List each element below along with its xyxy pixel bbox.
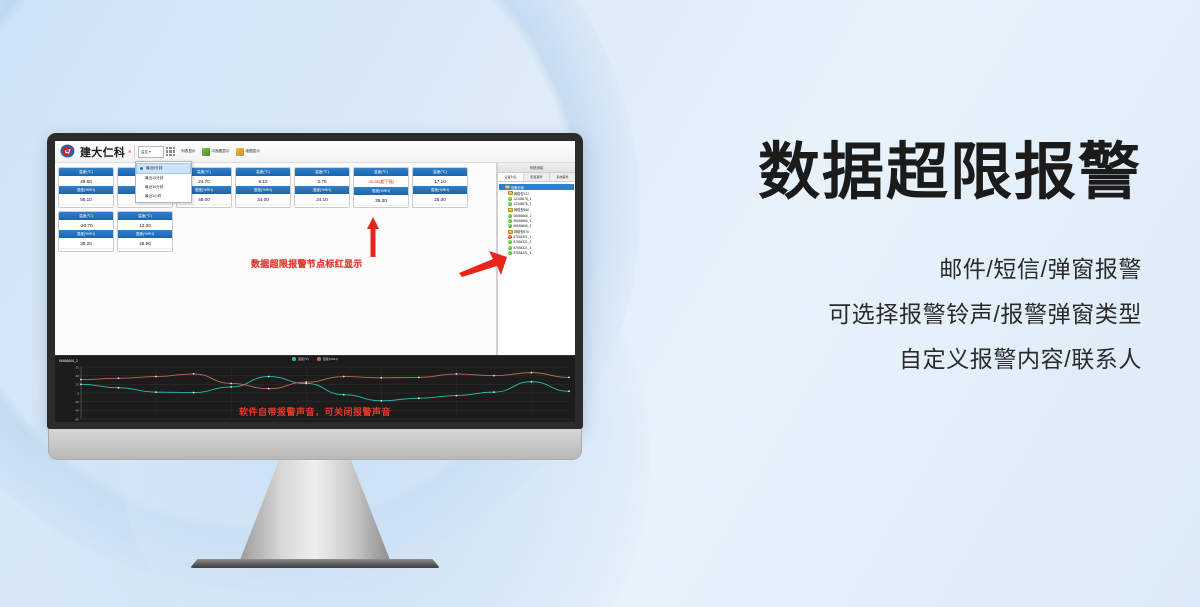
legend-swatch-humidity [317, 357, 321, 361]
tree-device-label: 12345678_2 [514, 202, 532, 206]
device-card[interactable]: 温度(℃)17.10湿度(%RH)25.0087654321_2 [412, 167, 468, 208]
card-temperature-header: 温度(℃) [118, 212, 172, 220]
card-device-id: 66666666_3 [295, 204, 349, 208]
tree-device-label: 12345678_1 [514, 197, 532, 201]
chevron-down-icon: ▾ [149, 149, 151, 154]
side-panel-title: 系统消息 [498, 163, 575, 173]
card-humidity-value: 24.10 [295, 194, 349, 204]
card-device-id: 12345678_2 [118, 204, 172, 208]
feature-line-0: 邮件/短信/弹窗报警 [622, 247, 1142, 292]
device-tree[interactable]: −设备分组−网络型12J12345678_112345678_2−网络型6666… [498, 182, 575, 355]
monitor-stand-neck [240, 460, 390, 560]
card-temperature-value: 9.10 [236, 176, 290, 186]
svg-text:40: 40 [76, 374, 80, 378]
device-card[interactable]: 温度(℃)-20.70湿度(%RH)38.2087654321_3 [58, 211, 114, 252]
card-humidity-value: 34.00 [236, 194, 290, 204]
card-humidity-value: 38.20 [59, 238, 113, 248]
tree-group-label: 网络型666 [514, 207, 529, 212]
tree-device-label: 87654321_3 [514, 246, 532, 250]
expander-icon[interactable]: − [499, 185, 503, 189]
tab-config-events[interactable]: 配置事件 [524, 173, 550, 181]
side-panel-tabs: 设备列表 配置事件 系统事件 [498, 173, 575, 182]
dropdown-item-0[interactable]: 最近5分钟 [136, 163, 191, 174]
device-card[interactable]: 温度(℃)49.50湿度(%RH)55.1012345678_1 [58, 167, 114, 208]
card-humidity-value: 55.10 [59, 194, 113, 204]
expander-icon[interactable]: − [502, 230, 506, 234]
tab-device-list[interactable]: 设备列表 [498, 173, 524, 181]
app-toolbar: 建大仁科 ® 监控 ▾ 列表显示 [55, 141, 575, 163]
legend-item-humidity[interactable]: 湿度(%RH) [317, 357, 338, 361]
status-dot-online-icon [508, 240, 512, 244]
toolbar-button-floorplan-view[interactable]: 平面图显示 [199, 147, 233, 157]
svg-text:60: 60 [76, 365, 80, 369]
svg-text:20: 20 [76, 383, 80, 387]
promo-banner: 建大仁科 ® 监控 ▾ 列表显示 [0, 0, 1200, 607]
tree-group-label: 网络型12J [514, 191, 529, 196]
card-temperature-header: 温度(℃) [354, 168, 408, 176]
dropdown-item-2[interactable]: 最近30分钟 [136, 183, 191, 192]
map-icon [236, 148, 244, 156]
dropdown-item-3[interactable]: 最近1小时 [136, 192, 191, 201]
tree-device-node[interactable]: 87654321_4 [499, 250, 574, 255]
svg-text:-20: -20 [75, 400, 80, 404]
status-dot-online-icon [508, 251, 512, 255]
folder-icon [508, 208, 513, 212]
brand-registered-mark: ® [128, 149, 131, 154]
card-temperature-value: -20.70 [59, 220, 113, 230]
device-card[interactable]: 温度(℃)12.30湿度(%RH)48.9087654321_4 [117, 211, 173, 252]
device-card[interactable]: 温度(℃)2.70湿度(%RH)24.1066666666_3 [294, 167, 350, 208]
tree-device-label: 66666666_1 [514, 214, 532, 218]
brand-name: 建大仁科 [80, 144, 125, 160]
status-dot-online-icon [508, 202, 512, 206]
expander-icon[interactable]: − [502, 191, 506, 195]
card-device-id: 87654321_1 [354, 205, 408, 208]
map-label: 地图显示 [246, 149, 260, 154]
card-temperature-header: 温度(℃) [236, 168, 290, 176]
card-device-id: 87654321_3 [59, 248, 113, 252]
card-humidity-header: 湿度(%RH) [236, 186, 290, 194]
legend-label-temperature: 温度(℃) [298, 357, 309, 361]
folder-icon [508, 230, 513, 234]
monitor-stand-base [190, 559, 440, 568]
status-dot-online-icon [508, 219, 512, 223]
monitoring-app-window: 建大仁科 ® 监控 ▾ 列表显示 [55, 141, 575, 422]
status-dot-alarm-icon [508, 235, 512, 239]
arrow-up-icon [367, 217, 379, 257]
status-dot-online-icon [508, 246, 512, 250]
device-card[interactable]: 温度(℃)-52.50(超下限)湿度(%RH)39.3087654321_1 [353, 167, 409, 208]
monitor-mockup: 建大仁科 ® 监控 ▾ 列表显示 [47, 133, 583, 568]
floorplan-icon [202, 148, 210, 156]
device-card[interactable]: 温度(℃)9.10湿度(%RH)34.0066666666_2 [235, 167, 291, 208]
tree-device-label: 87654321_2 [514, 240, 532, 244]
legend-label-humidity: 湿度(%RH) [323, 357, 338, 361]
toolbar-button-map-view[interactable]: 地图显示 [233, 147, 263, 157]
dropdown-item-1[interactable]: 最近15分钟 [136, 174, 191, 183]
card-device-id: 87654321_4 [118, 248, 172, 252]
card-humidity-header: 湿度(%RH) [354, 187, 408, 195]
arrow-right-icon [459, 251, 507, 277]
time-range-combo[interactable]: 监控 ▾ [138, 146, 164, 158]
list-view-label: 列表显示 [181, 149, 195, 154]
trend-chart-panel: 66666666_2 温度(℃) 湿度(%RH) 6040200-20- [55, 355, 575, 422]
tree-device-label: 66666666_3 [514, 224, 532, 228]
alarm-node-annotation: 数据超限报警节点标红显示 [251, 257, 363, 270]
toolbar-button-list-view[interactable]: 列表显示 [178, 148, 198, 155]
card-device-id: 12345678_1 [59, 204, 113, 208]
card-humidity-value: 39.30 [354, 195, 408, 205]
card-device-id: 66666666_2 [236, 204, 290, 208]
svg-text:0: 0 [77, 391, 79, 395]
tree-device-label: 66666666_2 [514, 219, 532, 223]
card-device-id: 66666666_1 [177, 204, 231, 208]
monitor-bezel: 建大仁科 ® 监控 ▾ 列表显示 [47, 133, 583, 429]
feature-line-1: 可选择报警铃声/报警弹窗类型 [622, 292, 1142, 337]
expander-icon[interactable]: − [502, 208, 506, 212]
card-temperature-header: 温度(℃) [413, 168, 467, 176]
tab-system-events[interactable]: 系统事件 [550, 173, 575, 181]
tree-device-label: 87654321_4 [514, 251, 532, 255]
card-humidity-value: 48.90 [118, 238, 172, 248]
folder-icon [505, 185, 510, 189]
card-humidity-value: 25.00 [413, 194, 467, 204]
grid-view-icon[interactable] [166, 147, 175, 156]
card-temperature-header: 温度(℃) [59, 168, 113, 176]
folder-icon [508, 191, 513, 195]
monitor-screen: 建大仁科 ® 监控 ▾ 列表显示 [55, 141, 575, 422]
legend-swatch-temperature [292, 357, 296, 361]
card-humidity-header: 湿度(%RH) [295, 186, 349, 194]
chart-legend: 温度(℃) 湿度(%RH) [55, 357, 575, 361]
status-dot-online-icon [508, 214, 512, 218]
page-title: 数据超限报警 [622, 138, 1142, 207]
card-humidity-header: 湿度(%RH) [118, 230, 172, 238]
status-dot-online-icon [508, 197, 512, 201]
alarm-sound-annotation: 软件自带报警声音，可关闭报警声音 [55, 405, 575, 418]
feature-list: 邮件/短信/弹窗报警 可选择报警铃声/报警弹窗类型 自定义报警内容/联系人 [622, 247, 1142, 382]
device-tree-panel: 系统消息 设备列表 配置事件 系统事件 −设备分组−网络型12J12345678… [497, 163, 575, 355]
feature-line-2: 自定义报警内容/联系人 [622, 337, 1142, 382]
toolbar-divider [134, 145, 135, 158]
time-range-value: 监控 [141, 149, 148, 154]
card-humidity-header: 湿度(%RH) [59, 186, 113, 194]
card-temperature-header: 温度(℃) [295, 168, 349, 176]
card-temperature-value: 49.50 [59, 176, 113, 186]
card-temperature-value: 12.30 [118, 220, 172, 230]
floorplan-label: 平面图显示 [212, 149, 230, 154]
tree-device-label: 87654321_1 [514, 235, 532, 239]
time-range-dropdown-menu[interactable]: 最近5分钟 最近15分钟 最近30分钟 最近1小时 [135, 161, 192, 203]
card-temperature-value: -52.50(超下限) [354, 176, 408, 187]
card-temperature-value: 2.70 [295, 176, 349, 186]
tree-root-label: 设备分组 [511, 185, 524, 190]
status-dot-online-icon [508, 224, 512, 228]
monitor-chin [48, 429, 582, 460]
app-logo: 建大仁科 ® [58, 144, 131, 160]
legend-item-temperature[interactable]: 温度(℃) [292, 357, 309, 361]
tree-group-label: 网络型876 [514, 229, 529, 234]
card-temperature-header: 温度(℃) [59, 212, 113, 220]
marketing-copy: 数据超限报警 邮件/短信/弹窗报警 可选择报警铃声/报警弹窗类型 自定义报警内容… [622, 138, 1142, 382]
brand-shield-icon [60, 144, 77, 159]
card-temperature-value: 17.10 [413, 176, 467, 186]
card-humidity-header: 湿度(%RH) [59, 230, 113, 238]
card-device-id: 87654321_2 [413, 204, 467, 208]
card-humidity-header: 湿度(%RH) [413, 186, 467, 194]
